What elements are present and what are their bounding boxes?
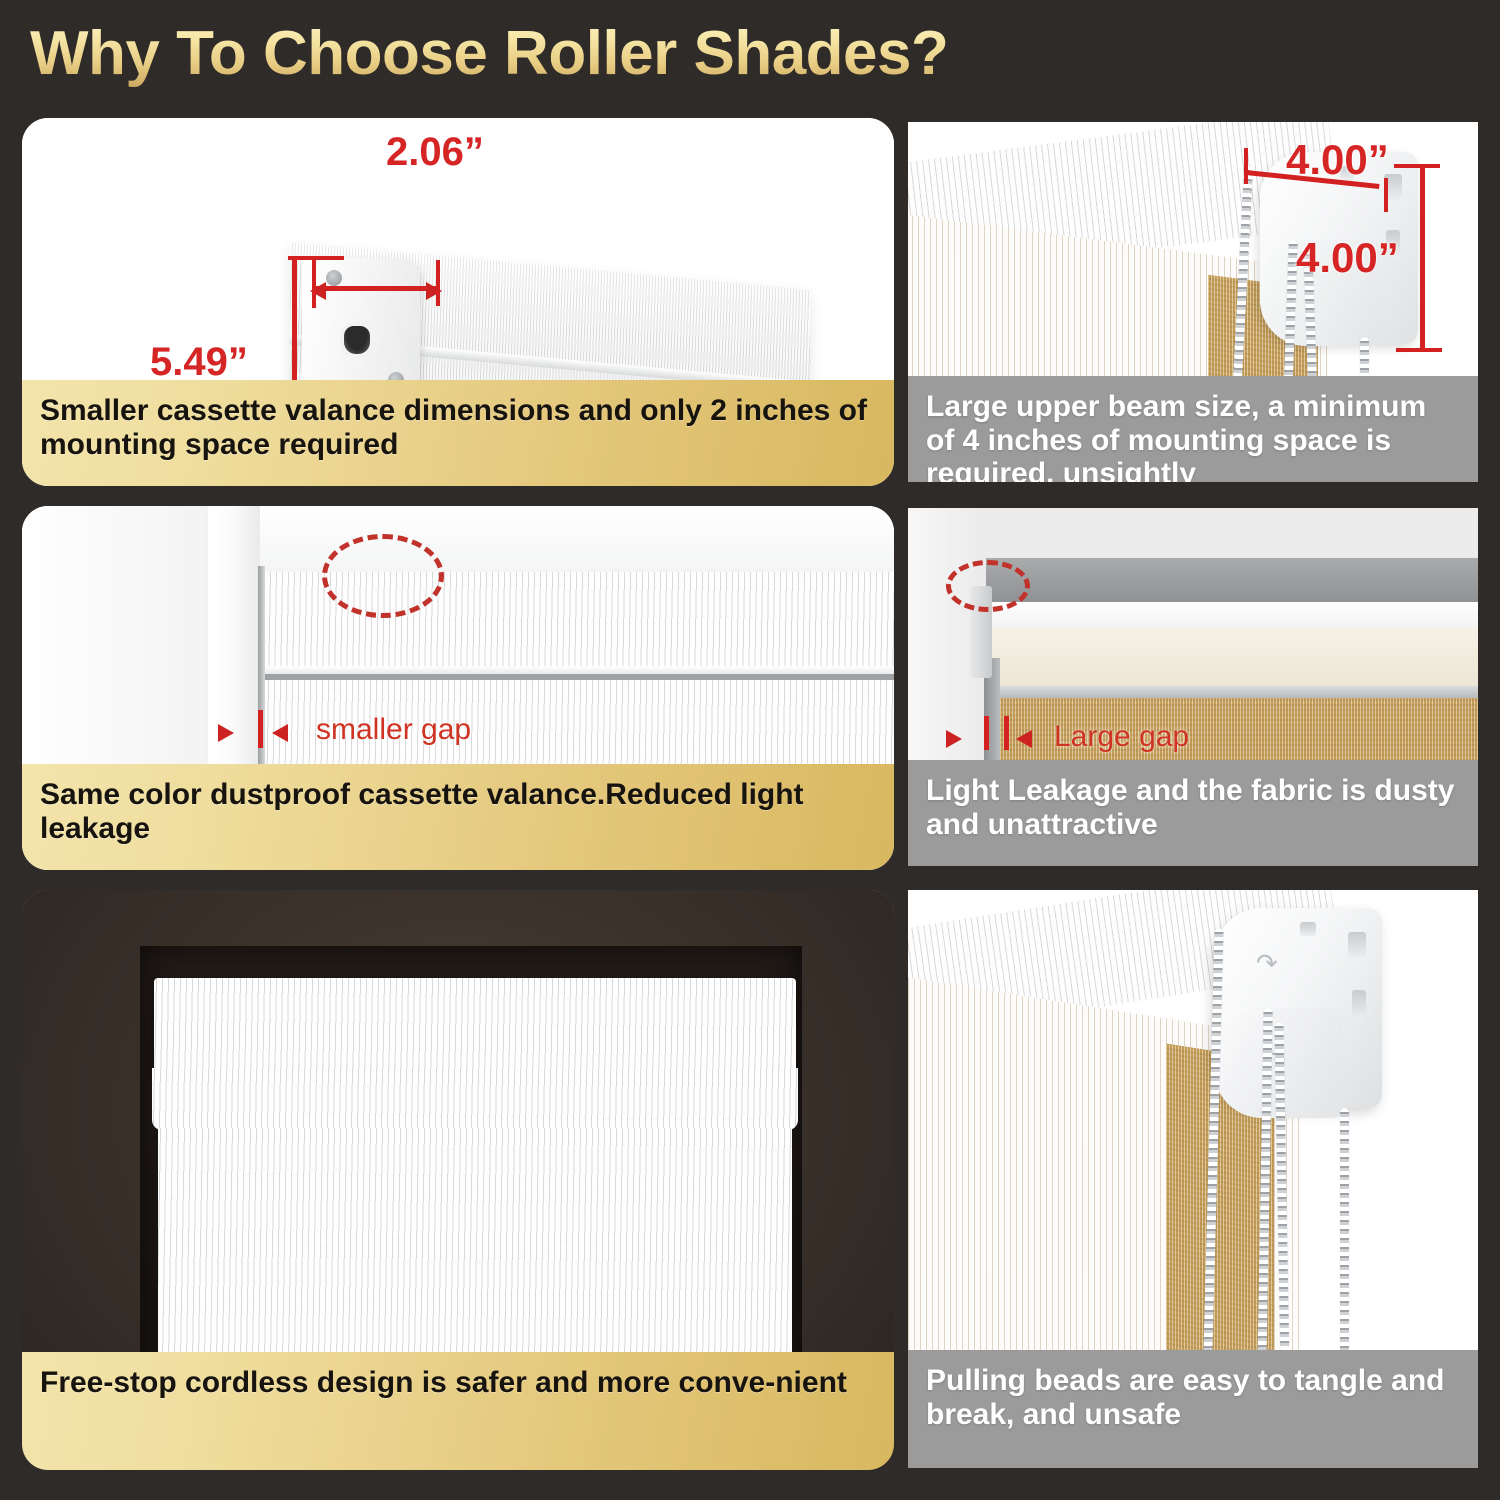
dimension-tick bbox=[1394, 164, 1440, 168]
wall-top bbox=[908, 508, 1478, 558]
dimension-tick bbox=[312, 260, 316, 308]
panel-row2-left: smaller gap Same color dustproof cassett… bbox=[22, 506, 894, 870]
gap-arrow-right-icon bbox=[218, 724, 234, 742]
panel-row3-left: Free-stop cordless design is safer and m… bbox=[22, 890, 894, 1470]
screw-icon bbox=[326, 270, 342, 286]
bracket-notch bbox=[1300, 922, 1316, 936]
height-dimension-label: 5.49” bbox=[150, 340, 248, 385]
gap-arrow-left-icon bbox=[1016, 730, 1032, 748]
dimension-tick bbox=[288, 256, 344, 260]
highlight-circle-icon bbox=[322, 534, 444, 618]
bottom-rail bbox=[988, 686, 1478, 698]
caption-row1-left: Smaller cassette valance dimensions and … bbox=[22, 380, 894, 486]
bracket-notch bbox=[1352, 990, 1366, 1020]
panel-row1-left: 2.06” 5.49” Smaller cassette valance dim… bbox=[22, 118, 894, 486]
beam-shadow bbox=[986, 558, 1478, 602]
shade-band-shadow bbox=[265, 674, 894, 680]
gap-marker bbox=[258, 710, 263, 748]
height-dimension-line bbox=[1420, 166, 1425, 352]
gap-label: smaller gap bbox=[316, 713, 471, 747]
caption-row2-left: Same color dustproof cassette valance.Re… bbox=[22, 764, 894, 870]
caption-row1-right: Large upper beam size, a minimum of 4 in… bbox=[908, 376, 1478, 482]
highlight-circle-icon bbox=[946, 560, 1030, 612]
cassette-valance bbox=[154, 978, 796, 1074]
width-dimension-line bbox=[314, 286, 440, 291]
caption-row3-left: Free-stop cordless design is safer and m… bbox=[22, 1352, 894, 1470]
gap-arrow-left-icon bbox=[272, 724, 288, 742]
panel-row1-right: 4.00” 4.00” Large upper beam size, a min… bbox=[908, 122, 1478, 482]
dimension-tick bbox=[1244, 148, 1248, 184]
height-dimension-label: 4.00” bbox=[1296, 234, 1399, 282]
bracket-glyph-icon: ↷ bbox=[1256, 948, 1278, 979]
comparison-grid: 2.06” 5.49” Smaller cassette valance dim… bbox=[0, 0, 1500, 1500]
width-dimension-label: 4.00” bbox=[1286, 136, 1389, 184]
gap-arrow-right-icon bbox=[946, 730, 962, 748]
caption-row2-right: Light Leakage and the fabric is dusty an… bbox=[908, 760, 1478, 866]
valance-slot bbox=[340, 322, 374, 358]
cream-band bbox=[992, 628, 1478, 690]
panel-row2-right: Large gap Light Leakage and the fabric i… bbox=[908, 508, 1478, 866]
gap-marker bbox=[1004, 716, 1009, 750]
gap-label: Large gap bbox=[1054, 720, 1189, 754]
bracket-notch bbox=[1348, 932, 1366, 958]
caption-row3-right: Pulling beads are easy to tangle and bre… bbox=[908, 1350, 1478, 1468]
valance-lip bbox=[152, 1068, 798, 1130]
dimension-tick bbox=[436, 260, 440, 306]
width-dimension-label: 2.06” bbox=[386, 130, 484, 175]
panel-row3-right: ↷ ↷ Pulling beads are easy to tangle and… bbox=[908, 890, 1478, 1468]
dimension-tick bbox=[1396, 348, 1442, 352]
gap-marker bbox=[984, 716, 989, 750]
